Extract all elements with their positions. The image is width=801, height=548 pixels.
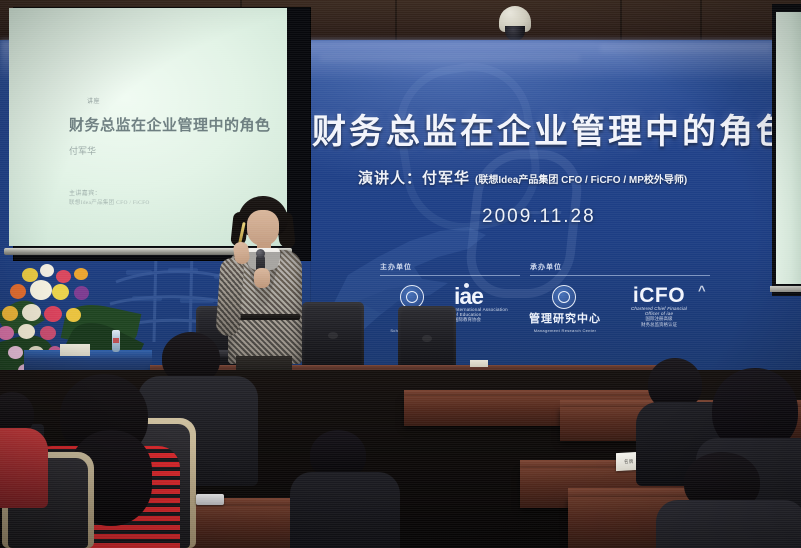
ceiling-seam — [700, 0, 702, 44]
banner-speaker-affiliation: (联想Idea产品集团 CFO / FiCFO / MP校外导师) — [475, 175, 687, 186]
slide-author: 付军华 — [69, 144, 96, 157]
mobile-phone — [196, 494, 224, 505]
paper-on-side-table — [60, 344, 90, 356]
ceiling-seam — [395, 0, 397, 44]
photo-scene: 财务总监在企业管理中的角色 演讲人：付军华(联想Idea产品集团 CFO / F… — [0, 0, 801, 548]
banner-speaker-name: 演讲人：付军华 — [358, 170, 470, 187]
projection-screen-right-roller — [770, 286, 801, 292]
banner-date: 2009.11.28 — [482, 206, 596, 228]
water-bottle — [112, 330, 120, 352]
organizer-label: 主办单位 — [380, 262, 520, 272]
host-seal-icon — [552, 285, 576, 309]
paper-on-stage-table — [470, 360, 488, 367]
host-block: 承办单位 管理研究中心 Management Research Center i… — [530, 262, 710, 335]
organizer-logo-iae: iae International Association of Educati… — [454, 287, 514, 323]
banner-speaker-line: 演讲人：付军华(联想Idea产品集团 CFO / FiCFO / MP校外导师) — [358, 167, 687, 188]
slide-title: 财务总监在企业管理中的角色 — [69, 114, 271, 135]
presenter-face — [247, 210, 279, 246]
name-card-label: 名牌 — [624, 459, 633, 465]
projection-screen-right — [776, 12, 801, 284]
host-logo-icfo: iCFO Chartered Chief Financial Officer o… — [614, 285, 704, 328]
banner-title: 财务总监在企业管理中的角色 — [312, 104, 793, 153]
presenter — [214, 196, 314, 381]
icfo-caret-icon: ^ — [698, 283, 706, 298]
host-label: 承办单位 — [530, 262, 710, 272]
host-logo-1: 管理研究中心 Management Research Center — [528, 309, 602, 333]
stage-chair — [398, 306, 456, 368]
slide-kicker: 讲座 — [87, 96, 100, 105]
slide-footer-2: 联想Idea产品集团 CFO / FiCFO — [69, 198, 150, 206]
slide-footer-1: 主讲嘉宾： — [69, 188, 101, 197]
ceiling-seam — [620, 0, 622, 44]
